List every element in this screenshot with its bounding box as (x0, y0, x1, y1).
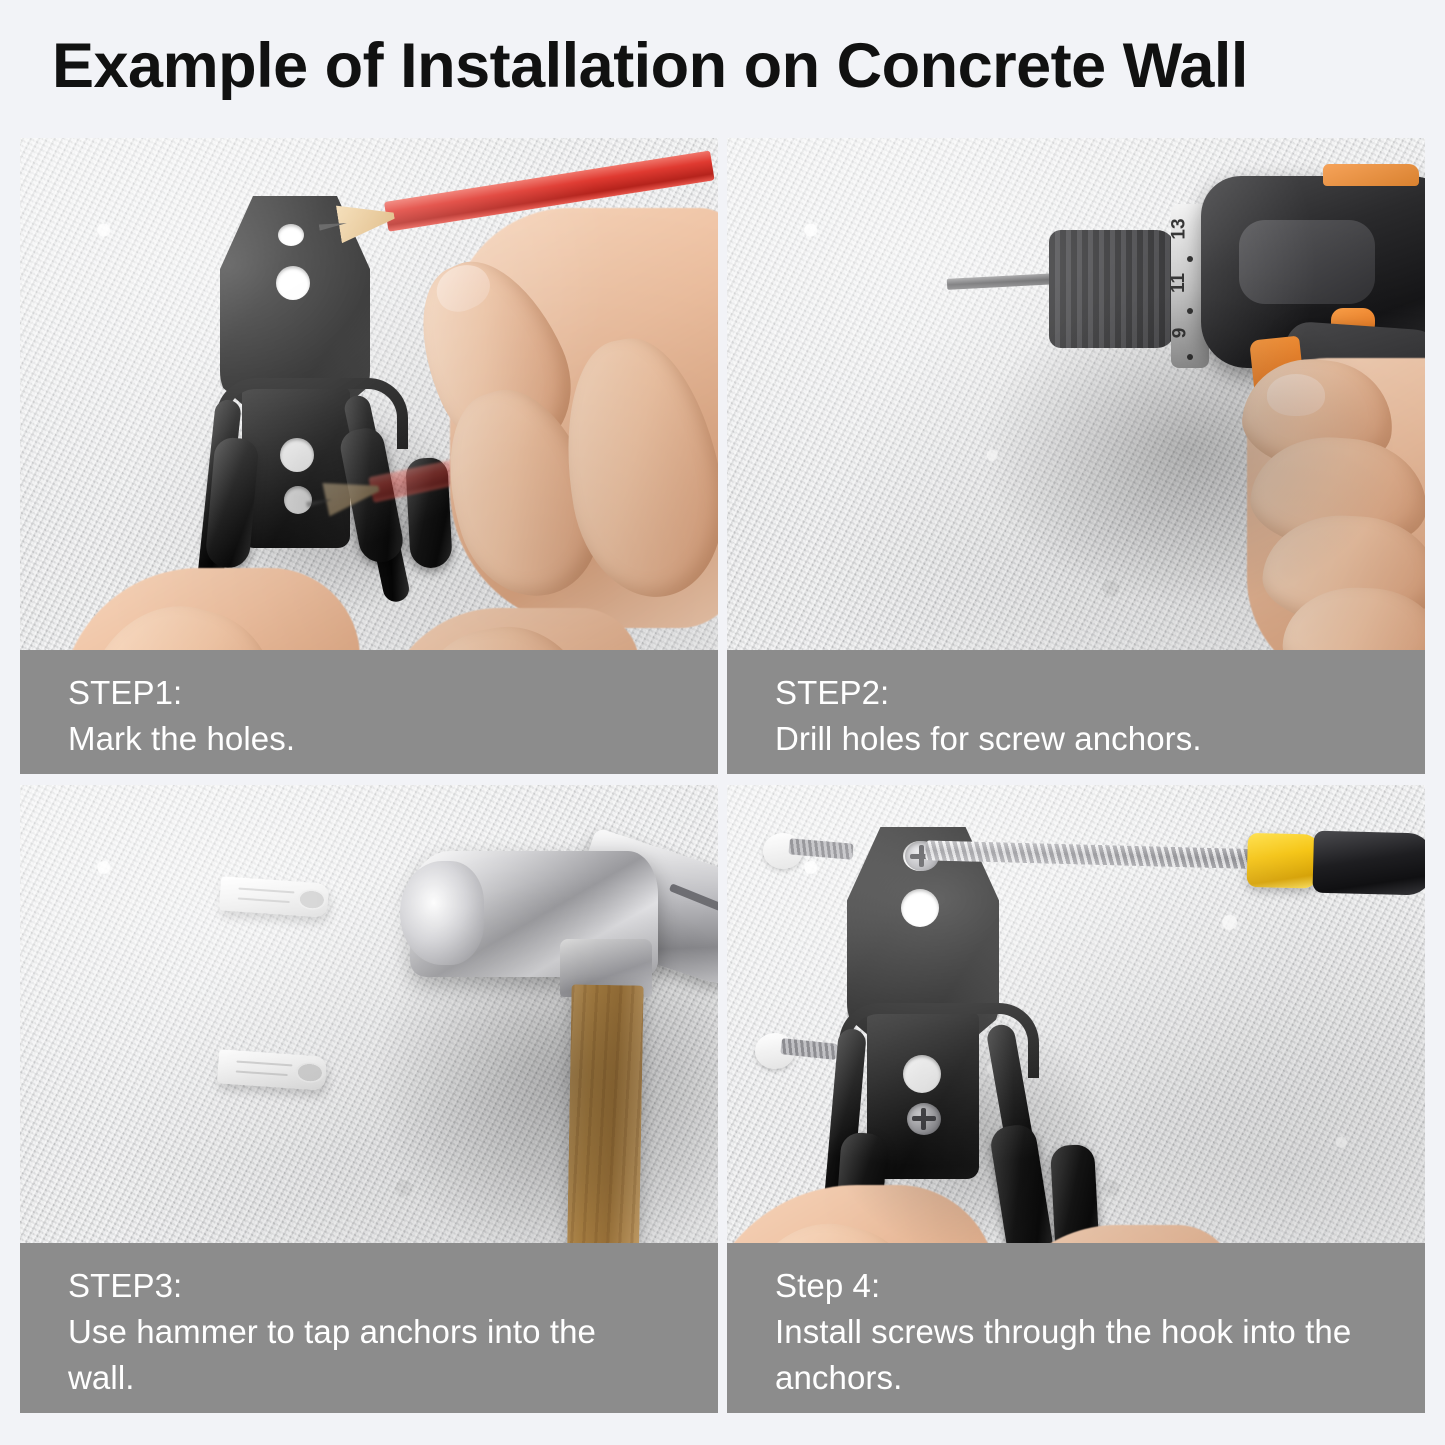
step-2-text: Drill holes for screw anchors. (775, 716, 1375, 762)
wall-anchor-lower (217, 1049, 327, 1090)
drill-side-pad (1239, 220, 1375, 304)
hammer-striking-face (400, 861, 484, 965)
screw-cross-bottom-v (921, 1108, 926, 1130)
step-1-text: Mark the holes. (68, 716, 668, 762)
step-2-caption: STEP2: Drill holes for screw anchors. (727, 650, 1425, 774)
anchor-upper-rib-2 (238, 897, 290, 903)
clutch-dot-1 (1187, 256, 1193, 262)
step-4-label: Step 4: (775, 1263, 1425, 1309)
claw-hammer (350, 835, 718, 1243)
screwdriver (916, 818, 1425, 922)
clutch-dot-2 (1187, 308, 1193, 314)
step-4-text: Install screws through the hook into the… (775, 1309, 1375, 1401)
step-1-photo (20, 138, 718, 650)
step-3-caption: STEP3: Use hammer to tap anchors into th… (20, 1243, 718, 1413)
step-card-3: STEP3: Use hammer to tap anchors into th… (20, 785, 718, 1413)
clutch-number-13: 13 (1169, 218, 1191, 239)
steps-grid: STEP1: Mark the holes. 13 11 9 (20, 138, 1425, 1413)
hammer-handle (564, 984, 643, 1243)
clutch-number-9: 9 (1169, 328, 1191, 339)
step-card-2: 13 11 9 (727, 138, 1425, 774)
fingernail-drill-index (1267, 374, 1325, 416)
step-4-photo (727, 785, 1425, 1243)
step-3-text: Use hammer to tap anchors into the wall. (68, 1309, 668, 1401)
clutch-number-11: 11 (1168, 273, 1190, 293)
wall-anchor-upper (219, 876, 329, 917)
screwdriver-ferrule (1247, 833, 1320, 889)
step-1-label: STEP1: (68, 670, 718, 716)
screw-head-bottom (907, 1103, 941, 1135)
step-card-1: STEP1: Mark the holes. (20, 138, 718, 774)
screwdriver-handle (1312, 831, 1425, 896)
anchor-lower-rib-1 (236, 1061, 292, 1067)
step-2-label: STEP2: (775, 670, 1425, 716)
hook-hole-second (276, 266, 310, 300)
hook-tip-right-mounted (988, 1122, 1055, 1243)
installation-guide-page: Example of Installation on Concrete Wall (0, 0, 1445, 1445)
step-card-4: Step 4: Install screws through the hook … (727, 785, 1425, 1413)
drill-chuck (1049, 230, 1175, 348)
anchor-lower-rib-2 (236, 1070, 288, 1076)
anchor-upper-rib-1 (238, 888, 294, 894)
step-1-caption: STEP1: Mark the holes. (20, 650, 718, 774)
step-4-caption: Step 4: Install screws through the hook … (727, 1243, 1425, 1413)
step-3-label: STEP3: (68, 1263, 718, 1309)
drill-top-grip-pad (1323, 164, 1419, 186)
drill-bit (947, 273, 1057, 290)
step-2-photo: 13 11 9 (727, 138, 1425, 650)
step-3-photo (20, 785, 718, 1243)
screwdriver-shaft (925, 840, 1255, 869)
clutch-dot-3 (1187, 354, 1193, 360)
page-title: Example of Installation on Concrete Wall (52, 30, 1412, 102)
